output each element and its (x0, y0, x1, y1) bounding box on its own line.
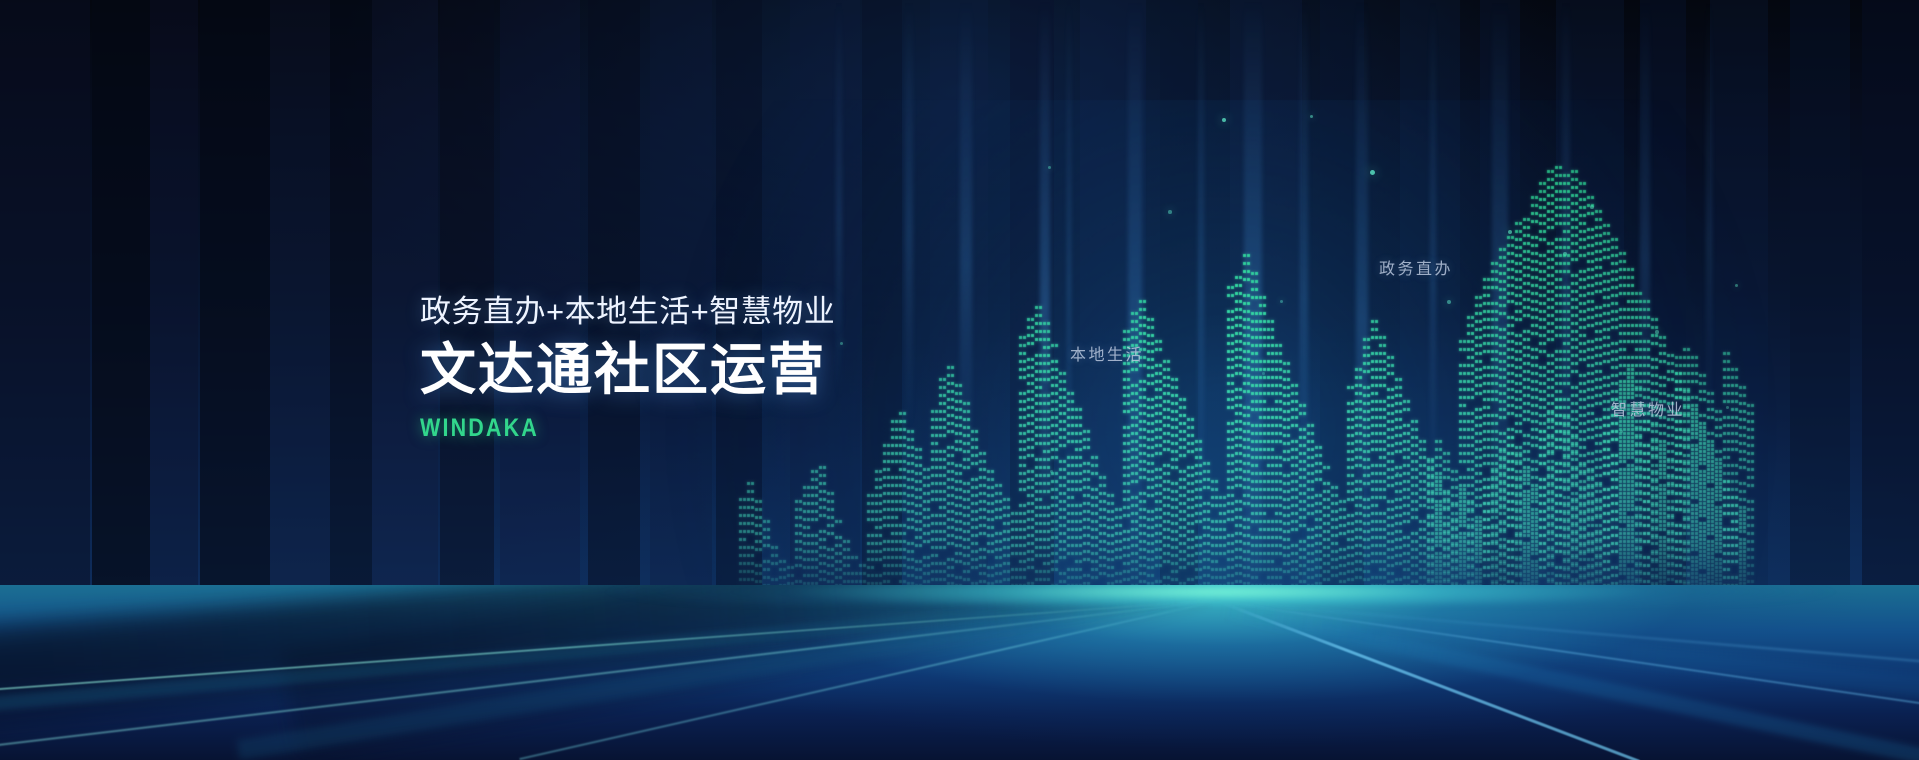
horizon-glow (0, 585, 1919, 605)
headline-block: 政务直办+本地生活+智慧物业 文达通社区运营 WINDAKA (420, 296, 835, 443)
perspective-ground (0, 585, 1919, 760)
city-label-2: 本地生活 (1070, 341, 1144, 365)
brand-logotype: WINDAKA (420, 414, 777, 443)
city-label-1: 政务直办 (1379, 255, 1453, 279)
banner-title: 文达通社区运营 (420, 341, 835, 400)
city-label-3: 智慧物业 (1611, 396, 1685, 420)
banner-subtitle: 政务直办+本地生活+智慧物业 (420, 296, 835, 327)
banner-root: 政务直办+本地生活+智慧物业 文达通社区运营 WINDAKA 政务直办本地生活智… (0, 0, 1919, 760)
